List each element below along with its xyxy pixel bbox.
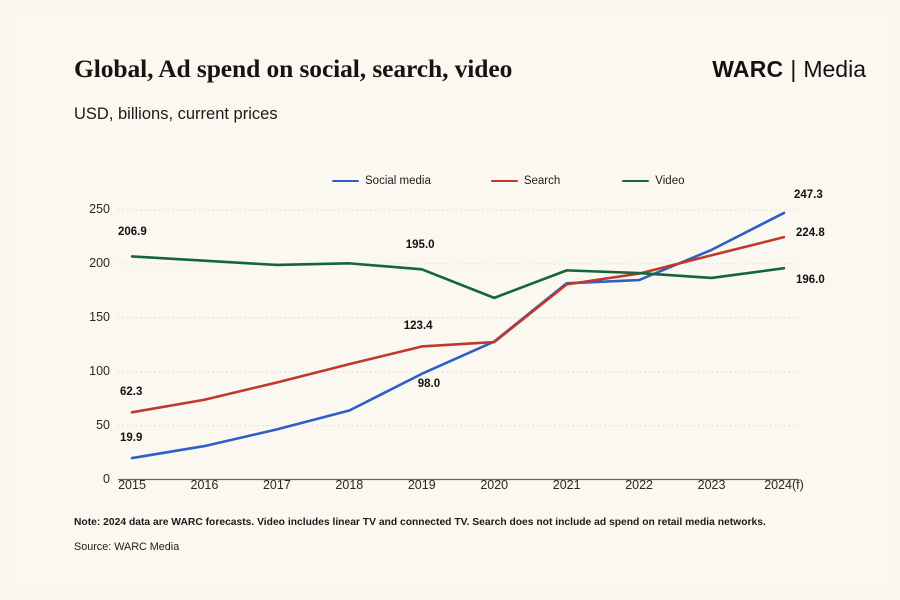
x-axis-tick-2021: 2021 — [532, 478, 602, 492]
chart-panel: Global, Ad spend on social, search, vide… — [14, 14, 886, 586]
x-axis-tick-2018: 2018 — [314, 478, 384, 492]
x-axis-tick-2023: 2023 — [677, 478, 747, 492]
data-label-video-2024f: 196.0 — [796, 274, 825, 286]
y-axis-tick-50: 50 — [72, 418, 110, 432]
y-axis-tick-200: 200 — [72, 256, 110, 270]
data-label-video-2019: 195.0 — [406, 239, 435, 251]
chart-note: Note: 2024 data are WARC forecasts. Vide… — [74, 517, 766, 528]
line-chart-plot — [14, 14, 886, 586]
data-label-video-2015: 206.9 — [118, 226, 147, 238]
data-label-search-2019: 123.4 — [404, 320, 433, 332]
x-axis-tick-2015: 2015 — [97, 478, 167, 492]
grid-lines — [118, 210, 798, 426]
x-axis-tick-2016: 2016 — [169, 478, 239, 492]
x-axis-tick-2024f: 2024(f) — [749, 478, 819, 492]
data-label-social-media-2015: 19.9 — [120, 432, 142, 444]
y-axis-tick-250: 250 — [72, 202, 110, 216]
series-line-social-media[interactable] — [132, 213, 784, 458]
x-axis-tick-2022: 2022 — [604, 478, 674, 492]
data-label-social-media-2019: 98.0 — [418, 378, 440, 390]
chart-source: Source: WARC Media — [74, 541, 179, 553]
y-axis-tick-100: 100 — [72, 364, 110, 378]
x-axis-tick-2017: 2017 — [242, 478, 312, 492]
y-axis-tick-150: 150 — [72, 310, 110, 324]
x-axis-tick-2019: 2019 — [387, 478, 457, 492]
data-label-search-2024f: 224.8 — [796, 227, 825, 239]
chart-figure: Global, Ad spend on social, search, vide… — [14, 14, 886, 586]
x-axis-tick-2020: 2020 — [459, 478, 529, 492]
data-label-social-media-2024f: 247.3 — [794, 189, 823, 201]
series-lines — [132, 213, 784, 458]
data-label-search-2015: 62.3 — [120, 386, 142, 398]
